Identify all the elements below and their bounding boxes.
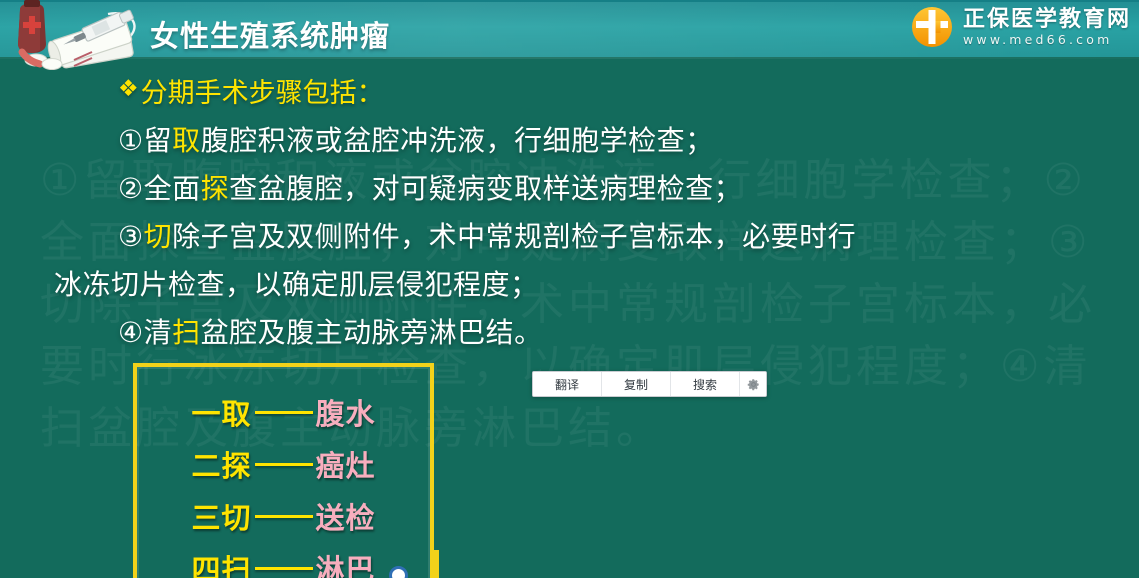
cursor-dot-indicator [389, 566, 408, 578]
search-button[interactable]: 搜索 [671, 372, 740, 396]
step-line-1: ①留取腹腔积液或盆腔冲洗液，行细胞学检查； [118, 119, 714, 159]
step-line-2: ②全面探查盆腹腔，对可疑病变取样送病理检查； [118, 167, 742, 207]
dash-connector-icon [255, 463, 313, 466]
summary-mnemonic-box: 一取 腹水 二探 癌灶 三切 送检 四扫 淋巴 [133, 363, 434, 578]
copy-button[interactable]: 复制 [602, 372, 671, 396]
step2-seg3: 查盆腹腔，对可疑病变取样送病理检查； [229, 172, 742, 205]
brand-name: 正保医学教育网 [963, 8, 1131, 31]
text-selection-popup-toolbar[interactable]: 翻译 复制 搜索 [532, 371, 767, 397]
summary-left: 三切 [191, 495, 251, 537]
step4-seg1: ④清 [118, 316, 172, 349]
slide-heading-text: 分期手术步骤包括： [141, 71, 384, 110]
dash-connector-icon [255, 515, 313, 518]
presentation-slide: ①留取腹腔积液或盆腔冲洗液，行细胞学检查；②全面探查盆腹腔，对可疑病变取样送病理… [0, 0, 1139, 578]
step1-highlight: 取 [172, 124, 201, 157]
step4-seg3: 盆腔及腹主动脉旁淋巴结。 [201, 316, 543, 349]
summary-rows: 一取 腹水 二探 癌灶 三切 送检 四扫 淋巴 [137, 367, 430, 578]
step2-highlight: 探 [201, 172, 230, 205]
step2-seg1: ②全面 [118, 172, 201, 205]
step3-seg1: ③ [118, 220, 144, 253]
slide-body: ❖ 分期手术步骤包括： ①留取腹腔积液或盆腔冲洗液，行细胞学检查； ②全面探查盆… [0, 57, 1139, 578]
step3b-seg1: 冰冻切片检查，以确定肌层侵犯程度； [54, 268, 539, 301]
brand-text: 正保医学教育网 www.med66.com [963, 8, 1131, 50]
step4-highlight: 扫 [172, 316, 201, 349]
summary-right: 腹水 [316, 391, 376, 433]
step1-seg1: ①留 [118, 124, 172, 157]
dash-connector-icon [255, 567, 313, 570]
summary-right: 送检 [316, 495, 376, 537]
summary-row: 二探 癌灶 [137, 438, 430, 490]
page-title: 女性生殖系统肿瘤 [150, 13, 390, 55]
slide-heading: ❖ 分期手术步骤包括： [118, 71, 384, 110]
step3-highlight: 切 [144, 220, 173, 253]
summary-left: 一取 [191, 391, 251, 433]
summary-right: 淋巴 [316, 547, 376, 578]
brand-logo: 正保医学教育网 www.med66.com [910, 3, 1131, 55]
step3-seg3: 除子宫及双侧附件，术中常规剖检子宫标本，必要时行 [172, 220, 856, 253]
summary-left: 二探 [191, 443, 251, 485]
medical-supplies-illustration [0, 0, 150, 72]
translate-button[interactable]: 翻译 [533, 372, 602, 396]
med66-cross-icon [910, 5, 954, 53]
summary-row: 一取 腹水 [137, 386, 430, 438]
summary-left: 四扫 [191, 547, 251, 578]
diamond-bullet-icon: ❖ [118, 78, 139, 101]
summary-row: 四扫 淋巴 [137, 542, 430, 578]
box-edge-stripe [434, 550, 439, 578]
step1-seg3: 腹腔积液或盆腔冲洗液，行细胞学检查； [201, 124, 714, 157]
summary-row: 三切 送检 [137, 490, 430, 542]
gear-icon[interactable] [740, 372, 766, 396]
step-line-4: ④清扫盆腔及腹主动脉旁淋巴结。 [118, 311, 543, 351]
summary-right: 癌灶 [316, 443, 376, 485]
brand-url: www.med66.com [963, 31, 1131, 50]
dash-connector-icon [255, 411, 313, 414]
step-line-3a: ③切除子宫及双侧附件，术中常规剖检子宫标本，必要时行 [118, 215, 856, 255]
step-line-3b: 冰冻切片检查，以确定肌层侵犯程度； [54, 263, 539, 303]
